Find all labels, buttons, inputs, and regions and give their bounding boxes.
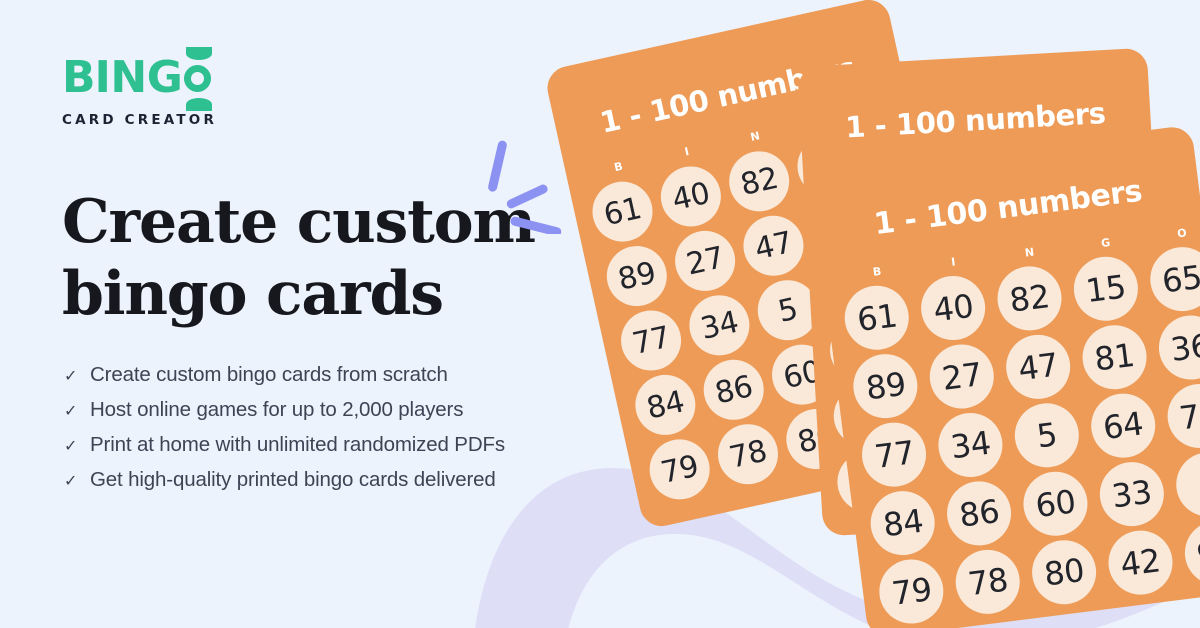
bingo-cell-number: 86 — [698, 354, 770, 426]
list-item-label: Host online games for up to 2,000 player… — [90, 393, 463, 426]
bingo-cell-number: 33 — [1096, 458, 1168, 530]
logo-letter-o-icon — [182, 55, 216, 101]
bingo-cell[interactable]: 86 — [937, 477, 1021, 550]
bingo-cell[interactable]: 33 — [1090, 458, 1174, 531]
bingo-cell-number: 70 — [1163, 380, 1200, 452]
bingo-cell-number: 84 — [630, 369, 702, 441]
bingo-cell-number: 47 — [1002, 331, 1074, 403]
bingo-cell[interactable]: 36 — [1148, 311, 1200, 384]
bingo-cell[interactable]: 84 — [625, 368, 706, 442]
bingo-cell-number: 80 — [1028, 536, 1100, 608]
bingo-cell-number: 78 — [712, 418, 784, 490]
bingo-cell-number: 64 — [1087, 390, 1159, 462]
hero-content: BING CARD CREATOR Create custom bingo ca… — [62, 0, 622, 628]
bingo-cell[interactable]: 77 — [610, 304, 691, 378]
bingo-cell[interactable]: 65 — [1140, 243, 1200, 316]
bingo-cell[interactable]: 81 — [1072, 321, 1156, 394]
bingo-cell[interactable]: 60 — [1013, 467, 1097, 540]
bingo-cell-number: 34 — [935, 409, 1007, 481]
bingo-cell-number: 82 — [994, 263, 1066, 335]
bingo-cell-number: 78 — [952, 546, 1024, 618]
bingo-cell[interactable]: 15 — [1064, 252, 1148, 325]
column-header-b: B — [838, 260, 916, 283]
check-icon: ✓ — [64, 360, 79, 393]
logo-tagline: CARD CREATOR — [62, 112, 302, 128]
bingo-cell[interactable]: 78 — [707, 417, 788, 491]
bingo-cell[interactable]: 34 — [679, 288, 760, 362]
bingo-cell-number: 61 — [841, 282, 913, 354]
check-icon: ✓ — [64, 430, 79, 463]
bingo-cell[interactable]: 61 — [835, 281, 919, 354]
column-header-g: G — [1067, 232, 1145, 255]
bingo-cell[interactable]: 79 — [639, 433, 720, 507]
logo-o-ring-icon — [184, 65, 211, 92]
bingo-cell-number: 47 — [738, 210, 810, 282]
bingo-cell[interactable]: 82 — [987, 262, 1071, 335]
bingo-cell-number: 6 — [1172, 449, 1200, 521]
bingo-cell[interactable]: 89 — [596, 239, 677, 313]
bingo-card-front[interactable]: 1 - 100 numbers B I N G O 61408215658927… — [810, 125, 1200, 628]
bingo-cell[interactable]: 89 — [844, 350, 928, 423]
brand-logo[interactable]: BING CARD CREATOR — [62, 55, 302, 128]
check-icon: ✓ — [64, 395, 79, 428]
column-header-n: N — [991, 241, 1069, 264]
bingo-cell[interactable]: 40 — [911, 271, 995, 344]
logo-letter-i: I — [95, 55, 111, 101]
logo-letter-n: N — [110, 55, 146, 101]
bingo-cell-number: 61 — [587, 176, 659, 248]
bingo-cell-number: 34 — [684, 290, 756, 362]
bingo-cell-number: 89 — [850, 350, 922, 422]
bingo-number-grid: 6140821565892747813677345647084866033679… — [825, 241, 1200, 628]
logo-letter-g: G — [147, 55, 183, 101]
bingo-cell-number: 79 — [876, 556, 948, 628]
bingo-cell[interactable]: 42 — [1098, 526, 1182, 599]
bingo-cell-number: 79 — [644, 434, 716, 506]
bingo-cell-number: 77 — [615, 305, 687, 377]
bingo-cell-number: 60 — [1020, 468, 1092, 540]
bingo-cell-number: 15 — [1070, 253, 1142, 325]
list-item-label: Get high-quality printed bingo cards del… — [90, 463, 496, 496]
bingo-cell-number: 27 — [926, 341, 998, 413]
bingo-cell[interactable]: 78 — [946, 545, 1030, 618]
bingo-cell-number: 82 — [723, 146, 795, 218]
bingo-cell-number: 5 — [1011, 400, 1083, 472]
headline-line-2: bingo cards — [62, 258, 602, 330]
bingo-cell-number: 36 — [1155, 312, 1200, 384]
bingo-cell-number: 91 — [1181, 517, 1200, 589]
hero-banner: BING CARD CREATOR Create custom bingo ca… — [0, 0, 1200, 628]
bingo-cell[interactable]: 47 — [733, 209, 814, 283]
bingo-cell[interactable]: 40 — [650, 160, 731, 234]
logo-wordmark: BING — [62, 55, 302, 103]
bingo-cell[interactable]: 70 — [1157, 380, 1200, 453]
bingo-cell[interactable]: 27 — [920, 340, 1004, 413]
bingo-cell[interactable]: 5 — [1005, 399, 1089, 472]
list-item-label: Create custom bingo cards from scratch — [90, 358, 448, 391]
bingo-cell[interactable]: 84 — [861, 486, 945, 559]
logo-arc-bottom-icon — [186, 98, 212, 111]
bingo-cell-number: 86 — [943, 478, 1015, 550]
bingo-cell-number: 84 — [867, 487, 939, 559]
bingo-cell[interactable]: 64 — [1081, 389, 1165, 462]
bingo-cell[interactable]: 61 — [582, 175, 663, 249]
bingo-cell[interactable]: 86 — [693, 353, 774, 427]
column-header-i: I — [915, 251, 993, 274]
check-icon: ✓ — [64, 465, 79, 498]
bingo-cell-number: 40 — [655, 161, 727, 233]
bingo-cell-number: 89 — [601, 240, 673, 312]
bingo-cell-number: 42 — [1105, 527, 1177, 599]
bingo-cards-illustration: 1 - 100 numbers B I N G O 61408215658927… — [560, 0, 1200, 628]
logo-letter-b: B — [62, 55, 95, 101]
bingo-cell-number: 81 — [1079, 321, 1151, 393]
bingo-cell-number: 27 — [669, 225, 741, 297]
bingo-cell[interactable]: 82 — [719, 144, 800, 218]
column-header-o: O — [1143, 222, 1200, 245]
bingo-cell-number: 77 — [859, 419, 931, 491]
bingo-cell[interactable]: 80 — [1022, 536, 1106, 609]
bingo-cell[interactable]: 34 — [929, 408, 1013, 481]
bingo-cell[interactable]: 47 — [996, 330, 1080, 403]
logo-arc-top-icon — [186, 47, 212, 60]
bingo-cell-number: 65 — [1146, 243, 1200, 315]
bingo-cell[interactable]: 27 — [664, 224, 745, 298]
bingo-cell[interactable]: 77 — [852, 418, 936, 491]
bingo-cell[interactable]: 79 — [870, 555, 954, 628]
list-item-label: Print at home with unlimited randomized … — [90, 428, 505, 461]
bingo-cell-number: 40 — [918, 272, 990, 344]
